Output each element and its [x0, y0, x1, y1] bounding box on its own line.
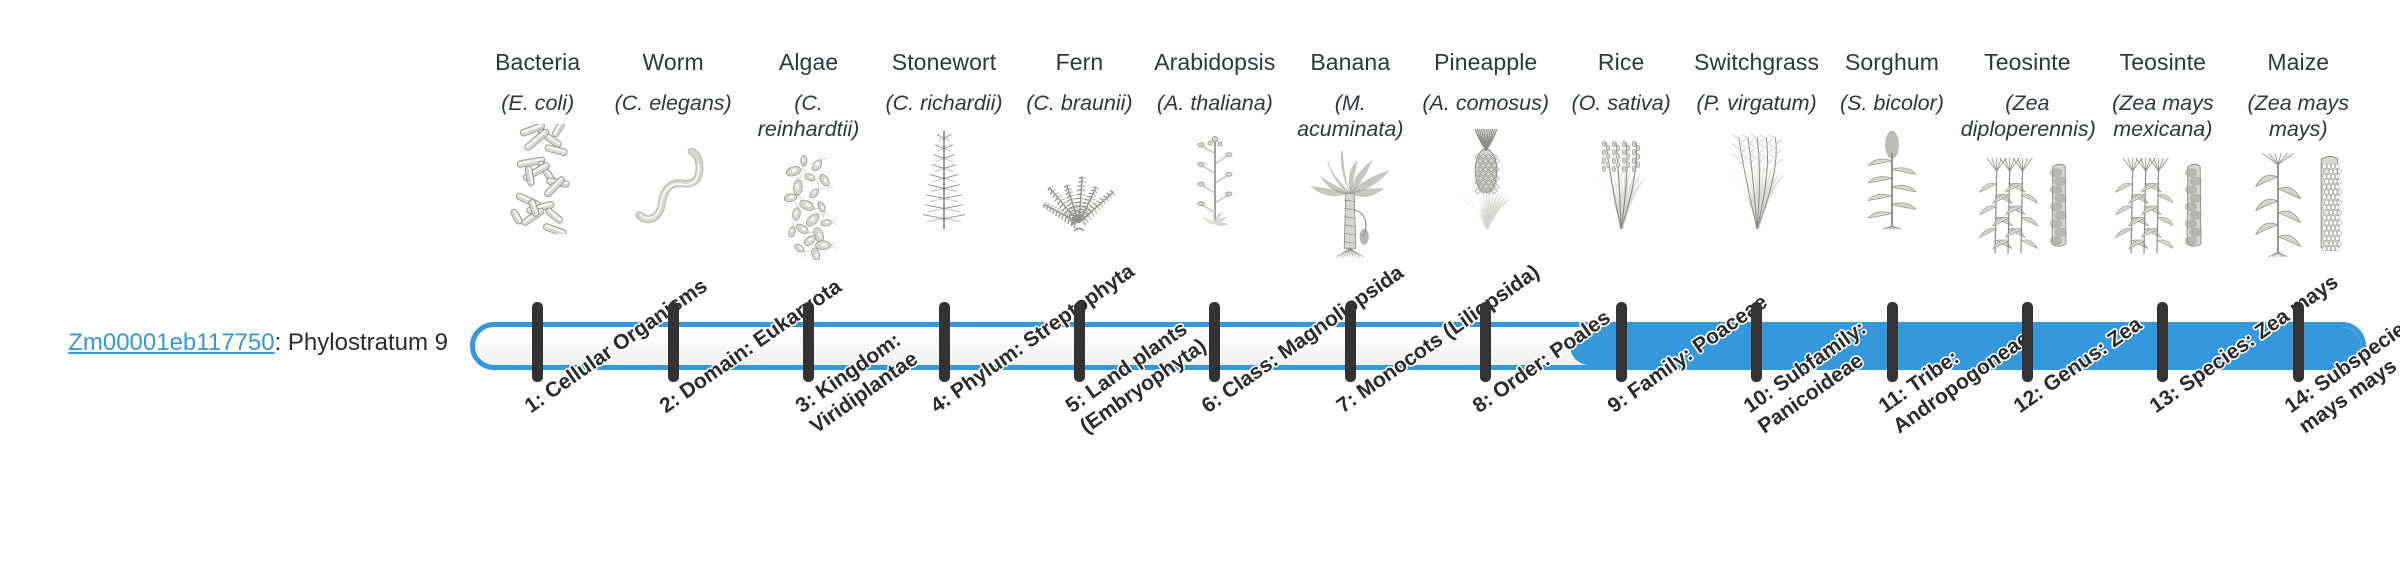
species-illustration-teosinte-diplo — [1960, 150, 2095, 260]
species-common-name: Worm — [605, 48, 740, 76]
species-column-algae: Algae (C. reinhardtii) — [741, 48, 876, 260]
species-common-name: Teosinte — [1960, 48, 2095, 76]
species-column-arabidopsis: Arabidopsis (A. thaliana) — [1147, 48, 1282, 234]
species-common-name: Maize — [2231, 48, 2366, 76]
species-latin-name: (S. bicolor) — [1824, 90, 1959, 116]
species-column-banana: Banana (M. acuminata) — [1283, 48, 1418, 260]
rank-number: 8: — [1468, 388, 1497, 418]
species-common-name: Stonewort — [876, 48, 1011, 76]
phylostratum-tick-1[interactable] — [532, 302, 543, 382]
species-column-teosinte-diplo: Teosinte (Zea diploperennis) — [1960, 48, 2095, 260]
species-common-name: Fern — [1012, 48, 1147, 76]
phylostratum-tick-13[interactable] — [2157, 302, 2168, 382]
species-latin-name: (O. sativa) — [1553, 90, 1688, 116]
phylostratum-progress-bar[interactable] — [470, 322, 2366, 370]
gene-label-separator: : — [275, 329, 288, 356]
rank-number: 3: — [791, 388, 820, 418]
phylostratigraphy-figure: Bacteria (E. coli) — [0, 0, 2400, 580]
species-column-sorghum: Sorghum (S. bicolor) — [1824, 48, 1959, 234]
species-column-stonewort: Stonewort (C. richardii) — [876, 48, 1011, 234]
species-illustration-switchgrass — [1689, 124, 1824, 234]
gene-phylostratum-label: Zm00001eb117750: Phylostratum 9 — [0, 328, 448, 358]
rank-number: 9: — [1604, 388, 1633, 418]
phylostratum-tick-10[interactable] — [1751, 302, 1762, 382]
gene-id-link[interactable]: Zm00001eb117750 — [68, 329, 274, 356]
species-latin-name: (C. richardii) — [876, 90, 1011, 116]
phylostratum-tick-2[interactable] — [668, 302, 679, 382]
phylostratum-tick-9[interactable] — [1616, 302, 1627, 382]
species-illustration-algae — [741, 150, 876, 260]
rank-number: 1: — [520, 388, 549, 418]
species-common-name: Arabidopsis — [1147, 48, 1282, 76]
rank-number: 7: — [1333, 388, 1362, 418]
rank-number: 6: — [1197, 388, 1226, 418]
species-latin-name: (C. elegans) — [605, 90, 740, 116]
species-illustration-rice — [1553, 124, 1688, 234]
rank-number: 14: — [2281, 381, 2319, 417]
species-latin-name: (Zea mays mexicana) — [2095, 90, 2230, 142]
species-common-name: Sorghum — [1824, 48, 1959, 76]
species-column-switchgrass: Switchgrass (P. virgatum) — [1689, 48, 1824, 234]
phylostratum-tick-14[interactable] — [2293, 302, 2304, 382]
species-latin-name: (C. reinhardtii) — [741, 90, 876, 142]
species-latin-name: (Zea mays mays) — [2231, 90, 2366, 142]
species-column-teosinte-mex: Teosinte (Zea mays mexicana) — [2095, 48, 2230, 260]
phylostratum-tick-11[interactable] — [1887, 302, 1898, 382]
progress-fill — [1570, 327, 2361, 365]
species-illustration-fern — [1012, 124, 1147, 234]
phylostratum-tick-4[interactable] — [939, 302, 950, 382]
species-latin-name: (A. thaliana) — [1147, 90, 1282, 116]
species-column-rice: Rice (O. sativa) — [1553, 48, 1688, 234]
rank-number: 5: — [1062, 388, 1091, 418]
phylostratum-value-label: Phylostratum 9 — [288, 329, 448, 356]
species-illustration-maize — [2231, 150, 2366, 260]
species-common-name: Banana — [1283, 48, 1418, 76]
phylostratum-tick-6[interactable] — [1209, 302, 1220, 382]
species-illustration-pineapple — [1418, 124, 1553, 234]
species-latin-name: (Zea diploperennis) — [1960, 90, 2095, 142]
rank-number: 10: — [1739, 381, 1777, 417]
phylostratum-tick-7[interactable] — [1345, 302, 1356, 382]
species-column-fern: Fern (C. braunii) — [1012, 48, 1147, 234]
species-illustration-stonewort — [876, 124, 1011, 234]
phylostratum-tick-8[interactable] — [1480, 302, 1491, 382]
species-latin-name: (M. acuminata) — [1283, 90, 1418, 142]
rank-number: 2: — [656, 388, 685, 418]
rank-number: 12: — [2010, 381, 2048, 417]
species-common-name: Bacteria — [470, 48, 605, 76]
species-header-row: Bacteria (E. coli) — [0, 0, 2400, 310]
phylostratum-tick-12[interactable] — [2022, 302, 2033, 382]
species-column-worm: Worm (C. elegans) — [605, 48, 740, 234]
species-illustration-arabidopsis — [1147, 124, 1282, 234]
species-column-pineapple: Pineapple (A. comosus) — [1418, 48, 1553, 234]
rank-number: 11: — [1875, 382, 1912, 418]
rank-number: 13: — [2145, 381, 2183, 417]
species-latin-name: (C. braunii) — [1012, 90, 1147, 116]
species-common-name: Teosinte — [2095, 48, 2230, 76]
species-common-name: Algae — [741, 48, 876, 76]
species-column-bacteria: Bacteria (E. coli) — [470, 48, 605, 234]
rank-number: 4: — [927, 388, 956, 418]
species-common-name: Switchgrass — [1689, 48, 1824, 76]
species-illustration-teosinte-mex — [2095, 150, 2230, 260]
species-latin-name: (A. comosus) — [1418, 90, 1553, 116]
species-column-maize: Maize (Zea mays mays) — [2231, 48, 2366, 260]
progress-track — [470, 322, 2366, 370]
species-common-name: Pineapple — [1418, 48, 1553, 76]
species-illustration-bacteria — [470, 124, 605, 234]
species-common-name: Rice — [1553, 48, 1688, 76]
species-illustration-banana — [1283, 150, 1418, 260]
species-illustration-worm — [605, 124, 740, 234]
phylostratum-tick-3[interactable] — [803, 302, 814, 382]
species-latin-name: (P. virgatum) — [1689, 90, 1824, 116]
phylostratum-tick-5[interactable] — [1074, 302, 1085, 382]
species-illustration-sorghum — [1824, 124, 1959, 234]
species-latin-name: (E. coli) — [470, 90, 605, 116]
